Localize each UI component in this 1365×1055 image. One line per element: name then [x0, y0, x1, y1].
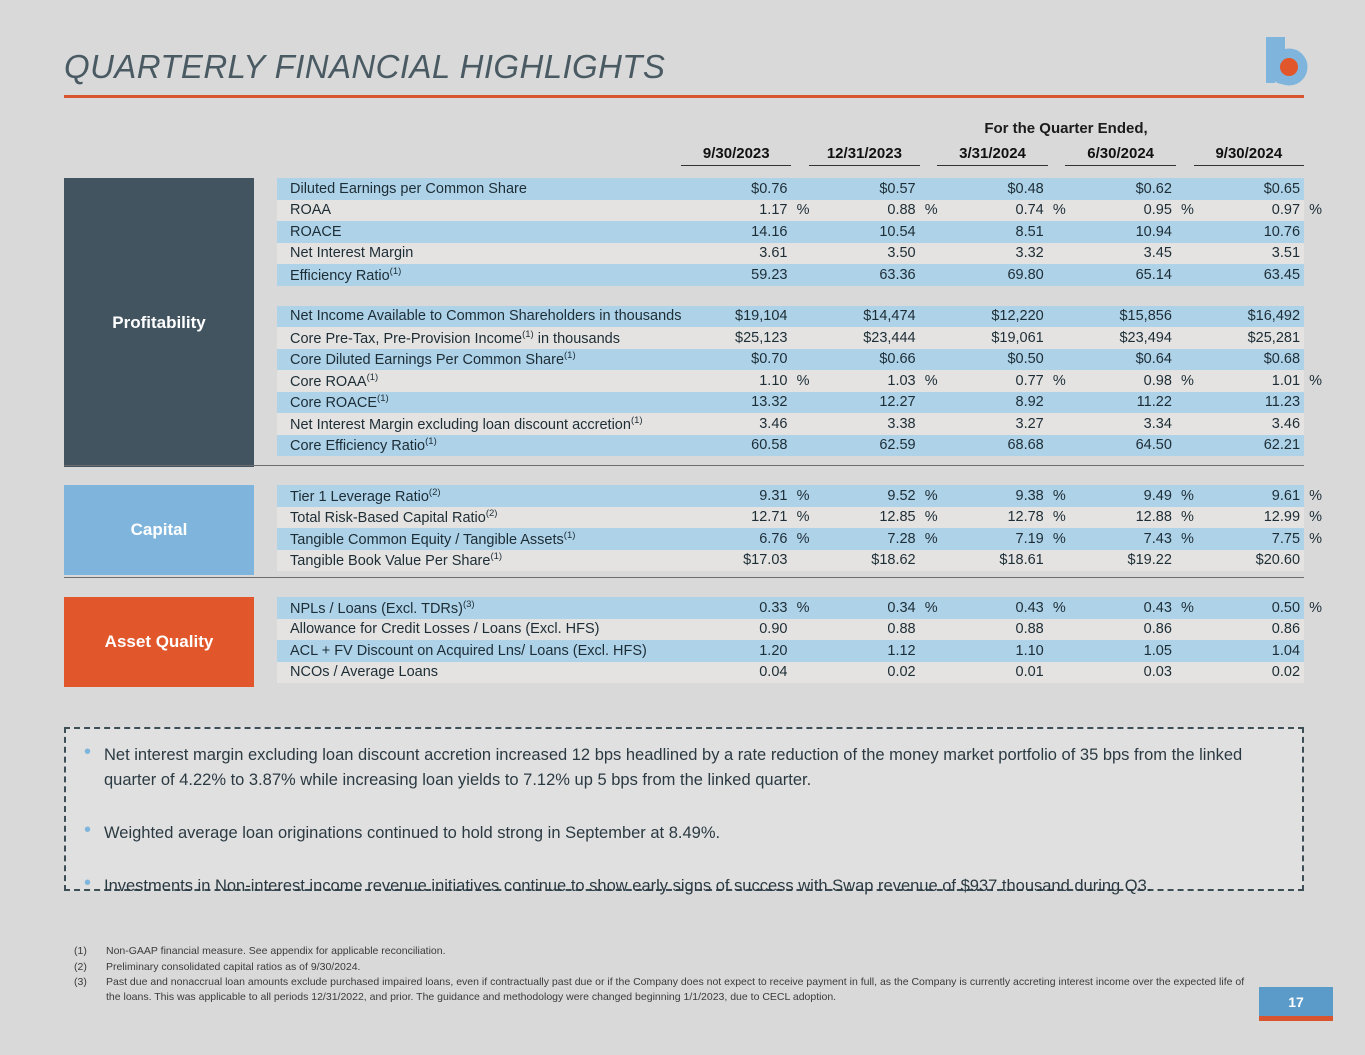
table-cell: 3.50 [809, 245, 919, 261]
category-label: Profitability [112, 313, 206, 333]
highlights-callout-box: •Net interest margin excluding loan disc… [64, 727, 1304, 891]
section-rows-capital: Tier 1 Leverage Ratio(2)9.31%9.52%9.38%9… [277, 485, 1304, 571]
table-cell: $16,492 [1194, 308, 1304, 324]
table-cell: 59.23 [681, 267, 791, 283]
percent-sign: % [925, 531, 938, 547]
column-header-1: 9/30/2023 [681, 145, 791, 166]
category-label: Capital [131, 520, 188, 540]
table-cell: $19.22 [1065, 552, 1175, 568]
table-cell: 1.03% [809, 373, 919, 389]
table-cell: $20.60 [1194, 552, 1304, 568]
table-cell: 13.32 [681, 394, 791, 410]
table-cell: 0.88 [937, 621, 1047, 637]
table-row: NCOs / Average Loans0.040.020.010.030.02 [277, 662, 1304, 684]
percent-sign: % [1181, 488, 1194, 504]
category-label: Asset Quality [105, 632, 214, 652]
table-cell: $0.57 [809, 181, 919, 197]
table-column-headers: 9/30/202312/31/20233/31/20246/30/20249/3… [277, 145, 1304, 166]
table-cell: 12.71% [681, 509, 791, 525]
footnote-text: Non-GAAP financial measure. See appendix… [106, 944, 1254, 959]
row-label: Net Income Available to Common Sharehold… [277, 308, 681, 324]
percent-sign: % [925, 488, 938, 504]
table-cell: 62.21 [1194, 437, 1304, 453]
row-label: Core ROAA(1) [277, 372, 681, 390]
table-cell: 0.77% [937, 373, 1047, 389]
percent-sign: % [797, 373, 810, 389]
callout-bullet: •Weighted average loan originations cont… [84, 821, 1280, 846]
table-cell: $17.03 [681, 552, 791, 568]
table-cell: 7.19% [937, 531, 1047, 547]
table-cell: 10.94 [1065, 224, 1175, 240]
table-cell: 0.88% [809, 202, 919, 218]
table-cell: 3.38 [809, 416, 919, 432]
percent-sign: % [797, 600, 810, 616]
percent-sign: % [1309, 531, 1322, 547]
footnote-row: (3)Past due and nonaccrual loan amounts … [74, 975, 1254, 1004]
table-cell: 7.28% [809, 531, 919, 547]
footnote-marker: (2) [486, 508, 498, 519]
percent-sign: % [1309, 600, 1322, 616]
table-cell: $12,220 [937, 308, 1047, 324]
percent-sign: % [797, 531, 810, 547]
table-row: Net Interest Margin3.613.503.323.453.51 [277, 243, 1304, 265]
callout-bullet: •Investments in Non-interest income reve… [84, 874, 1280, 899]
row-label: NCOs / Average Loans [277, 664, 681, 680]
footnote-text: Preliminary consolidated capital ratios … [106, 960, 1254, 975]
table-cell: 7.43% [1065, 531, 1175, 547]
table-cell: 3.45 [1065, 245, 1175, 261]
percent-sign: % [925, 373, 938, 389]
row-label: Net Interest Margin excluding loan disco… [277, 415, 681, 433]
table-row: Diluted Earnings per Common Share$0.76$0… [277, 178, 1304, 200]
table-cell: 0.50% [1194, 600, 1304, 616]
footnote-number: (3) [74, 975, 106, 1004]
table-cell: 9.61% [1194, 488, 1304, 504]
footnote-marker: (1) [564, 350, 576, 361]
table-cell: 63.45 [1194, 267, 1304, 283]
page-number: 17 [1288, 994, 1304, 1010]
table-cell: $0.50 [937, 351, 1047, 367]
column-gap [1048, 145, 1066, 166]
table-cell: 12.88% [1065, 509, 1175, 525]
table-cell: 12.27 [809, 394, 919, 410]
table-cell: 0.86 [1194, 621, 1304, 637]
row-label: Tangible Book Value Per Share(1) [277, 551, 681, 569]
table-row: NPLs / Loans (Excl. TDRs)(3)0.33%0.34%0.… [277, 597, 1304, 619]
table-cell: 0.97% [1194, 202, 1304, 218]
table-row: Net Income Available to Common Sharehold… [277, 306, 1304, 328]
table-row: Core Diluted Earnings Per Common Share(1… [277, 349, 1304, 371]
column-gap [920, 145, 938, 166]
callout-bullet-text: Investments in Non-interest income reven… [104, 874, 1280, 899]
percent-sign: % [925, 600, 938, 616]
table-cell: 64.50 [1065, 437, 1175, 453]
percent-sign: % [925, 509, 938, 525]
header-label-spacer [277, 145, 681, 166]
table-cell: 1.01% [1194, 373, 1304, 389]
row-label: Total Risk-Based Capital Ratio(2) [277, 508, 681, 526]
footnote-marker: (2) [429, 487, 441, 498]
table-cell: $14,474 [809, 308, 919, 324]
table-cell: 69.80 [937, 267, 1047, 283]
row-label: Tangible Common Equity / Tangible Assets… [277, 530, 681, 548]
percent-sign: % [1053, 488, 1066, 504]
table-cell: 1.04 [1194, 643, 1304, 659]
table-cell: 0.04 [681, 664, 791, 680]
row-label: Core ROACE(1) [277, 393, 681, 411]
table-row: Allowance for Credit Losses / Loans (Exc… [277, 619, 1304, 641]
table-cell: 1.20 [681, 643, 791, 659]
table-cell: 9.38% [937, 488, 1047, 504]
page-title: QUARTERLY FINANCIAL HIGHLIGHTS [64, 48, 1304, 86]
table-row: ROACE14.1610.548.5110.9410.76 [277, 221, 1304, 243]
column-group-title: For the Quarter Ended, [764, 120, 1365, 137]
percent-sign: % [1053, 373, 1066, 389]
percent-sign: % [925, 202, 938, 218]
table-cell: 0.43% [1065, 600, 1175, 616]
table-cell: $0.64 [1065, 351, 1175, 367]
footnote-row: (1)Non-GAAP financial measure. See appen… [74, 944, 1254, 959]
table-cell: $19,104 [681, 308, 791, 324]
table-cell: 63.36 [809, 267, 919, 283]
table-cell: 1.12 [809, 643, 919, 659]
callout-bullet-text: Weighted average loan originations conti… [104, 821, 1280, 846]
column-gap [1176, 145, 1194, 166]
row-label: Tier 1 Leverage Ratio(2) [277, 487, 681, 505]
table-cell: 14.16 [681, 224, 791, 240]
table-row: Core ROACE(1)13.3212.278.9211.2211.23 [277, 392, 1304, 414]
row-label: ROAA [277, 202, 681, 218]
footnote-marker: (1) [564, 530, 576, 541]
table-cell: 3.51 [1194, 245, 1304, 261]
percent-sign: % [1309, 488, 1322, 504]
table-cell: 0.74% [937, 202, 1047, 218]
table-row: Core Efficiency Ratio(1)60.5862.5968.686… [277, 435, 1304, 457]
table-cell: $25,123 [681, 330, 791, 346]
table-cell: 3.61 [681, 245, 791, 261]
footnote-text: Past due and nonaccrual loan amounts exc… [106, 975, 1254, 1004]
table-cell: $0.68 [1194, 351, 1304, 367]
row-label: Core Pre-Tax, Pre-Provision Income(1) in… [277, 329, 681, 347]
table-cell: 3.46 [681, 416, 791, 432]
table-cell: 0.98% [1065, 373, 1175, 389]
table-cell: $18.62 [809, 552, 919, 568]
table-cell: 12.99% [1194, 509, 1304, 525]
percent-sign: % [1309, 373, 1322, 389]
footnote-marker: (3) [463, 599, 475, 610]
table-cell: 3.27 [937, 416, 1047, 432]
percent-sign: % [1053, 531, 1066, 547]
section-divider-rule [64, 465, 1304, 466]
percent-sign: % [1181, 600, 1194, 616]
table-cell: 0.33% [681, 600, 791, 616]
percent-sign: % [1181, 531, 1194, 547]
table-row: Tangible Book Value Per Share(1)$17.03$1… [277, 550, 1304, 572]
footnote-marker: (1) [522, 329, 534, 340]
table-cell: 11.23 [1194, 394, 1304, 410]
table-cell: 1.10% [681, 373, 791, 389]
page-number-badge: 17 [1259, 987, 1333, 1021]
table-cell: 65.14 [1065, 267, 1175, 283]
column-header-4: 6/30/2024 [1065, 145, 1175, 166]
row-label: ROACE [277, 224, 681, 240]
table-cell: $0.70 [681, 351, 791, 367]
table-cell: 68.68 [937, 437, 1047, 453]
column-gap [791, 145, 809, 166]
table-cell: 60.58 [681, 437, 791, 453]
table-cell: 0.02 [1194, 664, 1304, 680]
table-cell: 0.88 [809, 621, 919, 637]
percent-sign: % [1181, 202, 1194, 218]
table-row: Tangible Common Equity / Tangible Assets… [277, 528, 1304, 550]
table-cell: $0.62 [1065, 181, 1175, 197]
table-cell: 3.46 [1194, 416, 1304, 432]
footnote-marker: (1) [490, 551, 502, 562]
footnote-row: (2)Preliminary consolidated capital rati… [74, 960, 1254, 975]
callout-bullet-text: Net interest margin excluding loan disco… [104, 743, 1280, 793]
table-cell: 9.31% [681, 488, 791, 504]
table-row: Efficiency Ratio(1)59.2363.3669.8065.146… [277, 264, 1304, 286]
row-label: NPLs / Loans (Excl. TDRs)(3) [277, 599, 681, 617]
percent-sign: % [1053, 509, 1066, 525]
footnote-marker: (1) [631, 415, 643, 426]
row-label: Efficiency Ratio(1) [277, 266, 681, 284]
table-cell: 62.59 [809, 437, 919, 453]
column-header-3: 3/31/2024 [937, 145, 1047, 166]
percent-sign: % [1181, 373, 1194, 389]
row-label: Diluted Earnings per Common Share [277, 181, 681, 197]
table-cell: $23,494 [1065, 330, 1175, 346]
row-label: Allowance for Credit Losses / Loans (Exc… [277, 621, 681, 637]
table-row: Total Risk-Based Capital Ratio(2)12.71%1… [277, 507, 1304, 529]
table-cell: $18.61 [937, 552, 1047, 568]
footnote-marker: (1) [377, 393, 389, 404]
table-cell: $0.76 [681, 181, 791, 197]
table-cell: 0.03 [1065, 664, 1175, 680]
table-cell: $0.48 [937, 181, 1047, 197]
table-row: Tier 1 Leverage Ratio(2)9.31%9.52%9.38%9… [277, 485, 1304, 507]
footnote-marker: (1) [367, 372, 379, 383]
table-cell: 6.76% [681, 531, 791, 547]
bullet-dot-icon: • [84, 821, 104, 839]
footnote-number: (2) [74, 960, 106, 975]
section-rows-profitability: Diluted Earnings per Common Share$0.76$0… [277, 178, 1304, 456]
table-cell: 3.34 [1065, 416, 1175, 432]
table-row: Core Pre-Tax, Pre-Provision Income(1) in… [277, 327, 1304, 349]
bullet-dot-icon: • [84, 743, 104, 761]
table-cell: 0.34% [809, 600, 919, 616]
table-cell: 0.01 [937, 664, 1047, 680]
footnotes-block: (1)Non-GAAP financial measure. See appen… [74, 944, 1254, 1005]
footnote-number: (1) [74, 944, 106, 959]
title-block: QUARTERLY FINANCIAL HIGHLIGHTS [64, 48, 1304, 98]
percent-sign: % [1181, 509, 1194, 525]
table-row: Core ROAA(1)1.10%1.03%0.77%0.98%1.01% [277, 370, 1304, 392]
table-row: ACL + FV Discount on Acquired Lns/ Loans… [277, 640, 1304, 662]
category-block-profitability: Profitability [64, 178, 254, 467]
table-cell: 0.02 [809, 664, 919, 680]
table-cell: 8.92 [937, 394, 1047, 410]
table-cell: 10.54 [809, 224, 919, 240]
callout-bullet: •Net interest margin excluding loan disc… [84, 743, 1280, 793]
row-label: Core Diluted Earnings Per Common Share(1… [277, 350, 681, 368]
footnote-marker: (1) [425, 436, 437, 447]
table-cell: 0.86 [1065, 621, 1175, 637]
row-label: Core Efficiency Ratio(1) [277, 436, 681, 454]
table-row: ROAA1.17%0.88%0.74%0.95%0.97% [277, 200, 1304, 222]
category-block-asset-quality: Asset Quality [64, 597, 254, 687]
table-cell: 8.51 [937, 224, 1047, 240]
table-cell: 12.85% [809, 509, 919, 525]
category-block-capital: Capital [64, 485, 254, 575]
percent-sign: % [1053, 600, 1066, 616]
table-cell: $0.65 [1194, 181, 1304, 197]
table-cell: $0.66 [809, 351, 919, 367]
percent-sign: % [1309, 509, 1322, 525]
table-cell: 9.49% [1065, 488, 1175, 504]
table-cell: $15,856 [1065, 308, 1175, 324]
footnote-marker: (1) [390, 266, 402, 277]
table-cell: $23,444 [809, 330, 919, 346]
percent-sign: % [1053, 202, 1066, 218]
row-group-gap [277, 286, 1304, 306]
table-cell: 0.95% [1065, 202, 1175, 218]
table-cell: 7.75% [1194, 531, 1304, 547]
bullet-dot-icon: • [84, 874, 104, 892]
row-label: ACL + FV Discount on Acquired Lns/ Loans… [277, 643, 681, 659]
table-cell: $19,061 [937, 330, 1047, 346]
percent-sign: % [797, 202, 810, 218]
table-row: Net Interest Margin excluding loan disco… [277, 413, 1304, 435]
table-cell: 11.22 [1065, 394, 1175, 410]
table-cell: 1.10 [937, 643, 1047, 659]
column-header-5: 9/30/2024 [1194, 145, 1304, 166]
table-cell: 1.17% [681, 202, 791, 218]
title-underline-rule [64, 95, 1304, 98]
column-header-2: 12/31/2023 [809, 145, 919, 166]
percent-sign: % [1309, 202, 1322, 218]
table-cell: 0.43% [937, 600, 1047, 616]
table-cell: 9.52% [809, 488, 919, 504]
table-cell: 12.78% [937, 509, 1047, 525]
table-cell: 1.05 [1065, 643, 1175, 659]
section-divider-rule [64, 577, 1304, 578]
table-cell: 0.90 [681, 621, 791, 637]
percent-sign: % [797, 488, 810, 504]
section-rows-asset-quality: NPLs / Loans (Excl. TDRs)(3)0.33%0.34%0.… [277, 597, 1304, 683]
table-cell: 3.32 [937, 245, 1047, 261]
company-b-logo-icon [1252, 33, 1310, 95]
table-cell: $25,281 [1194, 330, 1304, 346]
percent-sign: % [797, 509, 810, 525]
table-cell: 10.76 [1194, 224, 1304, 240]
row-label: Net Interest Margin [277, 245, 681, 261]
